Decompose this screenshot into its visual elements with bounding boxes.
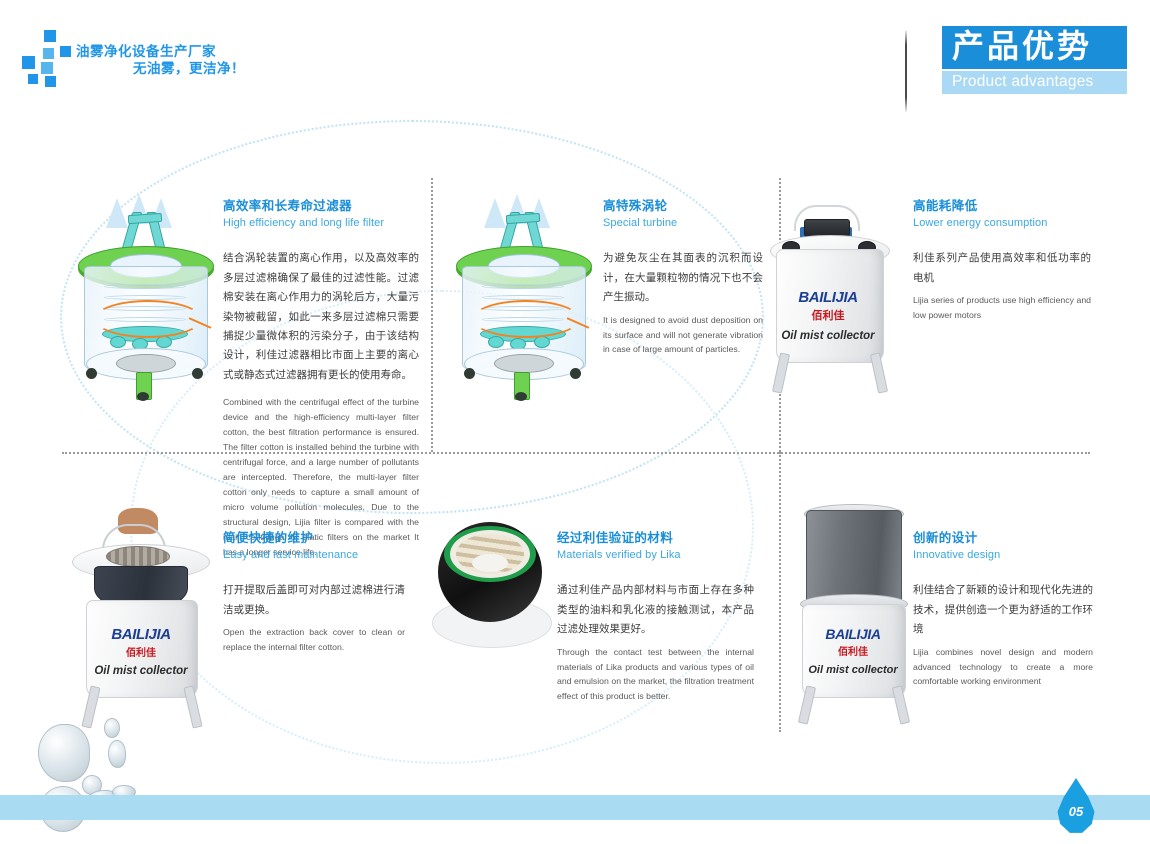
airflow-arrow-circle [94, 300, 202, 338]
brand-name-en: BAILIJIA [790, 626, 916, 642]
product-name-label: Oil mist collector [790, 664, 916, 676]
leg-right [892, 685, 910, 724]
block-heading-cn: 创新的设计 [913, 530, 1093, 547]
block-body-cn: 通过利佳产品内部材料与市面上存在多种类型的油料和乳化液的接触测试，本产品过滤处理… [557, 581, 754, 639]
block-body-cn: 打开提取后盖即可对内部过滤棉进行清洁或更换。 [223, 581, 405, 620]
block-heading-cn: 高特殊涡轮 [603, 198, 763, 215]
block-heading-cn: 经过利佳验证的材料 [557, 530, 754, 547]
product-photo-oil-mist-collector-2: BAILIJIA 佰利佳 Oil mist collector [790, 500, 916, 712]
page-title-cn: 产品优势 [942, 26, 1127, 69]
product-advantages-page: 油雾净化设备生产厂家 无油雾，更洁净！ 产品优势 Product advanta… [0, 0, 1150, 844]
block-heading-en: Materials verified by Lika [557, 548, 754, 563]
filter-cutaway-diagram-1 [70, 196, 220, 401]
block-heading-en: Special turbine [603, 216, 763, 231]
block-body-en: It is designed to avoid dust deposition … [603, 313, 763, 358]
leg-right [183, 685, 202, 728]
block-special-turbine: 高特殊涡轮 Special turbine 为避免灰尘在其面表的沉积而设计，在大… [603, 198, 763, 357]
filter-cartridge [806, 510, 902, 604]
block-heading-en: Easy and fast maintenance [223, 548, 405, 563]
filter-element-photo [432, 512, 552, 662]
brand-name-en: BAILIJIA [66, 626, 216, 643]
brand-name-cn: 佰利佳 [762, 307, 894, 323]
block-body-cn: 利佳结合了新颖的设计和现代化先进的技术，提供创造一个更为舒适的工作环境 [913, 581, 1093, 639]
brand-name-en: BAILIJIA [762, 289, 894, 306]
block-body-en: Lijia series of products use high effici… [913, 293, 1091, 323]
product-photo-maintenance: BAILIJIA 佰利佳 Oil mist collector [66, 508, 216, 728]
product-name-label: Oil mist collector [66, 665, 216, 677]
lid-grille [106, 546, 170, 567]
block-body-cn: 结合涡轮装置的离心作用，以及高效率的多层过滤棉确保了最佳的过滤性能。过滤棉安装在… [223, 249, 419, 385]
block-body-cn: 为避免灰尘在其面表的沉积而设计，在大量颗粒物的情况下也不会产生振动。 [603, 249, 763, 307]
block-easy-fast-maintenance: 简便快捷的维护 Easy and fast maintenance 打开提取后盖… [223, 530, 405, 655]
block-body-en: Lijia combines novel design and modern a… [913, 645, 1093, 690]
brand-name-cn: 佰利佳 [790, 643, 916, 658]
block-heading-en: High efficiency and long life filter [223, 216, 419, 231]
airflow-arrow-circle-2 [472, 300, 580, 338]
block-heading-en: Lower energy consumption [913, 216, 1091, 231]
center-opening [472, 554, 508, 572]
water-drop-small-4 [108, 740, 126, 768]
block-high-efficiency-filter: 高效率和长寿命过滤器 High efficiency and long life… [223, 198, 419, 560]
water-drop-large [38, 724, 90, 782]
leg-left [772, 352, 790, 393]
block-lower-energy-consumption: 高能耗降低 Lower energy consumption 利佳系列产品使用高… [913, 198, 1091, 323]
mesh-grille [116, 354, 176, 373]
block-innovative-design: 创新的设计 Innovative design 利佳结合了新颖的设计和现代化先进… [913, 530, 1093, 689]
block-materials-verified: 经过利佳验证的材料 Materials verified by Lika 通过利… [557, 530, 754, 704]
block-body-en: Through the contact test between the int… [557, 645, 754, 705]
page-title: 产品优势 Product advantages [942, 26, 1127, 94]
brand-name-cn: 佰利佳 [66, 644, 216, 659]
mesh-grille-2 [494, 354, 554, 373]
block-heading-en: Innovative design [913, 548, 1093, 563]
block-heading-cn: 简便快捷的维护 [223, 530, 405, 547]
product-brand-block: BAILIJIA 佰利佳 Oil mist collector [66, 626, 216, 677]
water-drop-small-5 [104, 718, 120, 738]
leg-right [870, 352, 888, 393]
footer-band [0, 795, 1150, 820]
filter-cutaway-diagram-2 [448, 196, 598, 401]
page-number-badge: 05 [1054, 778, 1098, 834]
product-brand-block: BAILIJIA 佰利佳 Oil mist collector [762, 289, 894, 342]
leg-left [81, 685, 100, 728]
vertical-divider-top-left [431, 178, 433, 452]
block-heading-cn: 高能耗降低 [913, 198, 1091, 215]
vertical-divider-bottom [779, 452, 781, 732]
horizontal-dotted-divider [62, 452, 1090, 454]
block-heading-cn: 高效率和长寿命过滤器 [223, 198, 419, 215]
title-divider-rule [905, 30, 907, 112]
block-body-cn: 利佳系列产品使用高效率和低功率的电机 [913, 249, 1091, 288]
page-number: 05 [1054, 804, 1098, 819]
page-title-en: Product advantages [942, 71, 1127, 94]
brand-tagline-2: 无油雾，更洁净！ [133, 57, 245, 77]
product-name-label: Oil mist collector [762, 330, 894, 342]
bailijia-logo-icon [22, 30, 70, 80]
leg-left [798, 685, 816, 724]
block-body-en: Open the extraction back cover to clean … [223, 625, 405, 655]
product-photo-oil-mist-collector-1: BAILIJIA 佰利佳 Oil mist collector [762, 205, 894, 395]
product-brand-block: BAILIJIA 佰利佳 Oil mist collector [790, 626, 916, 676]
